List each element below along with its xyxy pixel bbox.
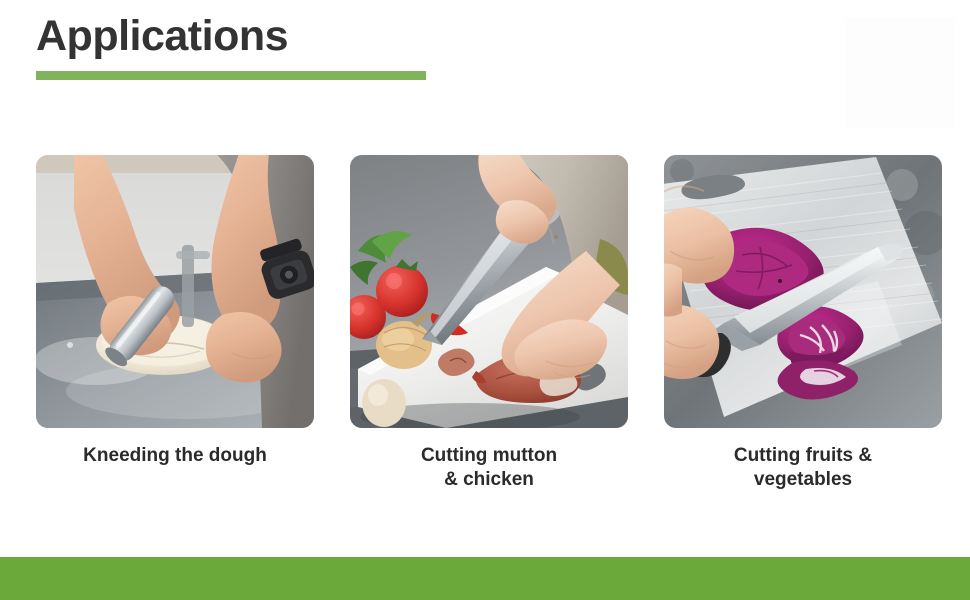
caption-line-1: Cutting mutton: [421, 445, 557, 466]
application-card-kneading: Kneeding the dough: [36, 155, 314, 493]
page-title: Applications: [36, 12, 288, 61]
card-caption: Cutting mutton & chicken: [350, 444, 628, 493]
cutting-vegetables-illustration: [664, 155, 942, 428]
kneading-dough-illustration: [36, 155, 314, 428]
photo-cutting-meat: [350, 155, 628, 428]
photo-cutting-vegetables: [664, 155, 942, 428]
decorative-corner-panel: [845, 18, 955, 128]
card-caption: Kneeding the dough: [36, 444, 314, 468]
applications-card-row: Kneeding the dough: [0, 155, 970, 493]
cutting-meat-illustration: [350, 155, 628, 428]
card-caption: Cutting fruits & vegetables: [664, 444, 942, 493]
caption-line-2: & chicken: [444, 469, 534, 490]
title-underline-bar: [36, 71, 426, 80]
application-card-cutting-vegetables: Cutting fruits & vegetables: [664, 155, 942, 493]
application-card-cutting-meat: Cutting mutton & chicken: [350, 155, 628, 493]
photo-kneading-dough: [36, 155, 314, 428]
caption-line-1: Cutting fruits &: [734, 445, 872, 466]
caption-line-2: vegetables: [754, 469, 852, 490]
footer-accent-band: [0, 557, 970, 600]
